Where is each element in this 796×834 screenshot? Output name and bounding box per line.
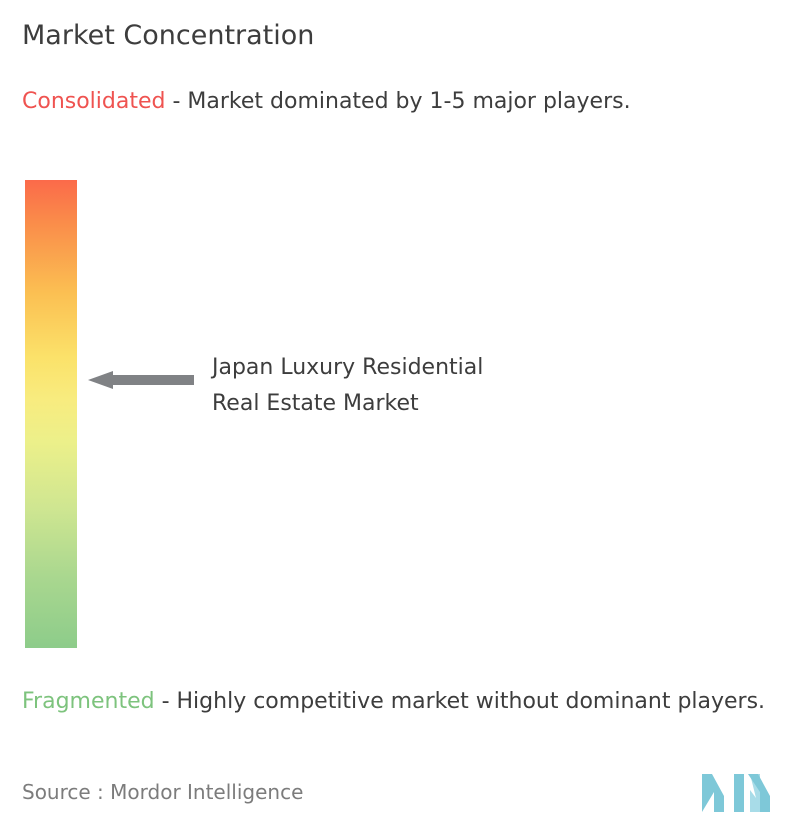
source-label: Source : Mordor Intelligence — [22, 780, 303, 804]
market-annotation-line1: Japan Luxury Residential — [212, 350, 632, 386]
mordor-intelligence-logo-icon — [700, 770, 772, 814]
consolidated-keyword: Consolidated — [22, 89, 165, 114]
consolidated-description: - Market dominated by 1-5 major players. — [165, 89, 630, 114]
consolidated-caption: Consolidated - Market dominated by 1-5 m… — [22, 85, 782, 118]
concentration-gradient-bar — [25, 180, 77, 648]
market-annotation: Japan Luxury Residential Real Estate Mar… — [212, 350, 632, 422]
market-annotation-line2: Real Estate Market — [212, 386, 632, 422]
fragmented-description: - Highly competitive market without domi… — [155, 689, 765, 714]
chart-canvas: Market Concentration Consolidated - Mark… — [0, 0, 796, 834]
fragmented-caption: Fragmented - Highly competitive market w… — [22, 685, 788, 718]
arrow-shaft-icon — [112, 375, 194, 385]
market-position-arrow-icon — [88, 371, 194, 389]
arrow-head-icon — [88, 371, 113, 389]
fragmented-keyword: Fragmented — [22, 689, 155, 714]
page-title: Market Concentration — [22, 20, 314, 51]
